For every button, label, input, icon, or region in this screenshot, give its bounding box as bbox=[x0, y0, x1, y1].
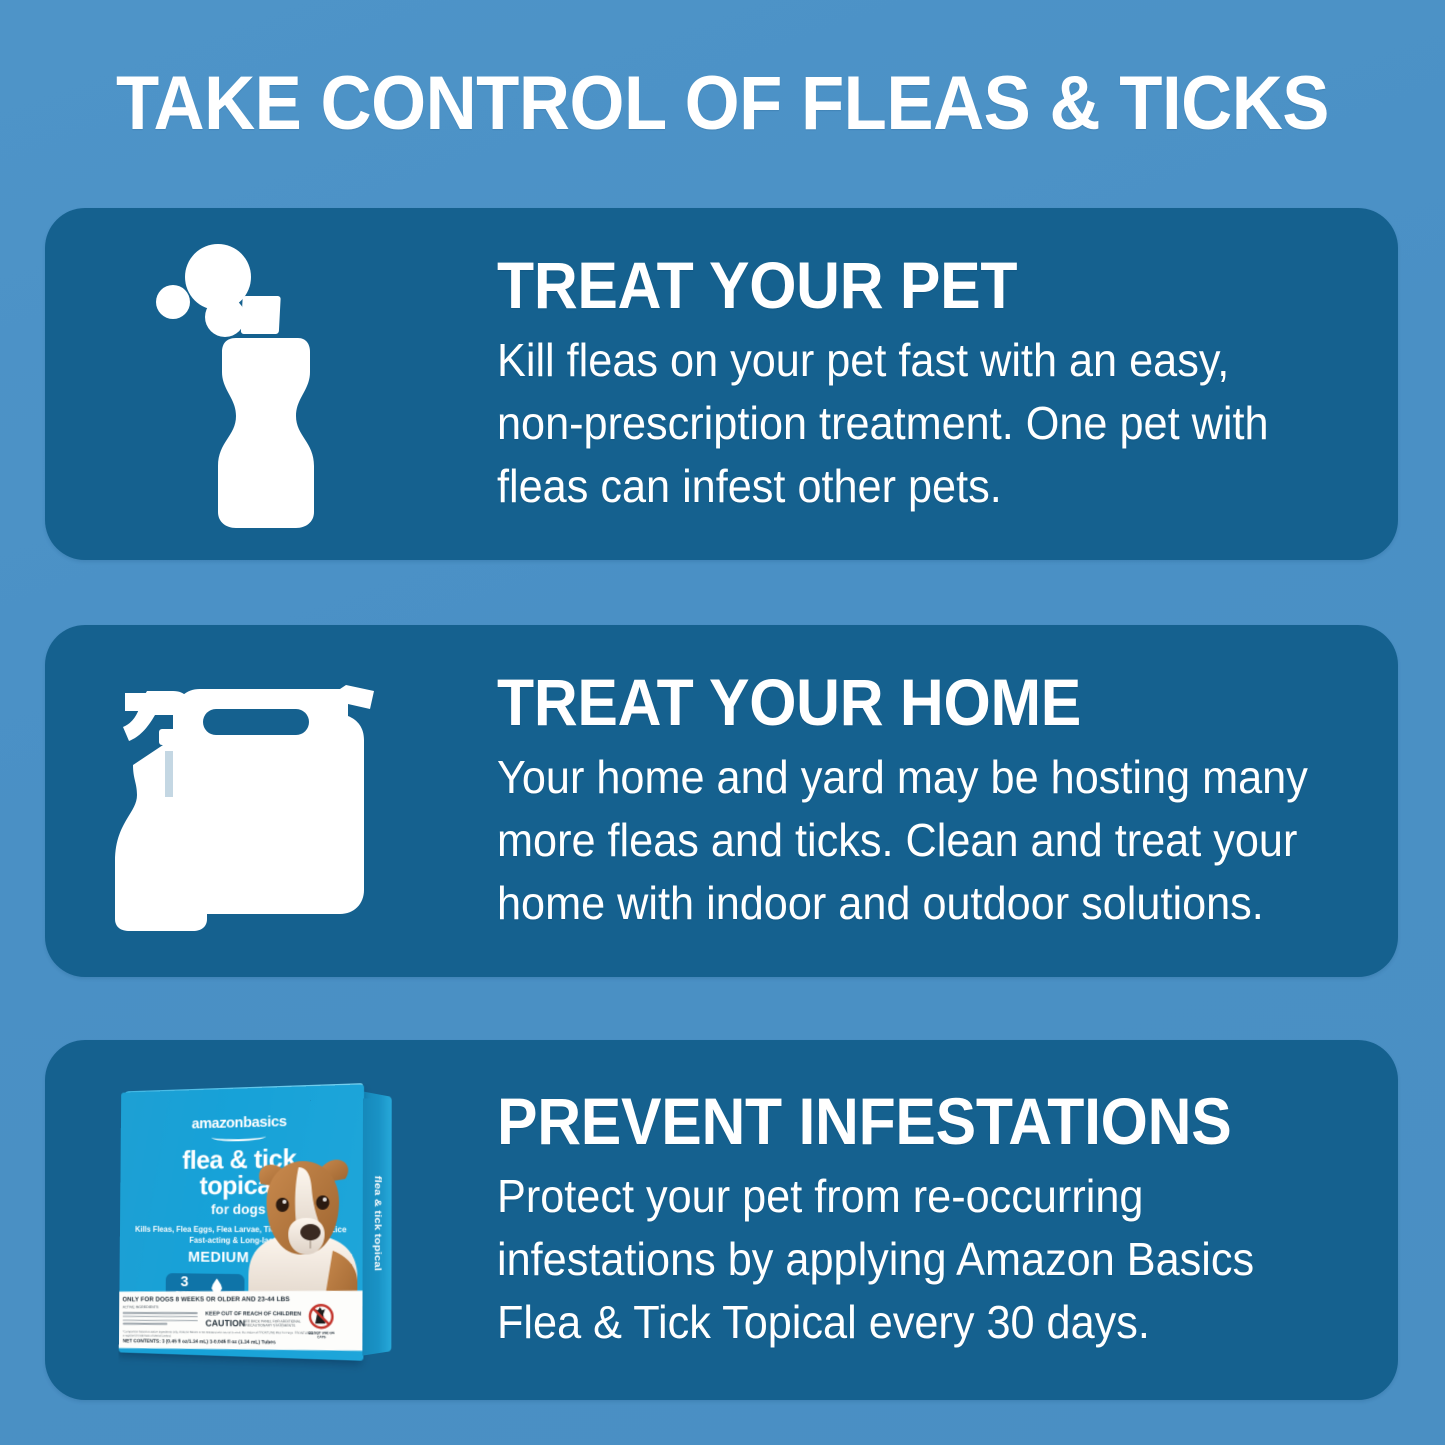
card-icon-container bbox=[45, 208, 465, 560]
spray-bottle-and-jug-icon bbox=[105, 671, 405, 931]
product-box-spine-text: flea & tick topical bbox=[372, 1175, 382, 1271]
label-keep-out-of-reach: KEEP OUT OF REACH OF CHILDREN bbox=[205, 1311, 301, 1317]
label-headline: ONLY FOR DOGS 8 WEEKS OR OLDER AND 23-44… bbox=[122, 1296, 289, 1303]
card-title: PREVENT INFESTATIONS bbox=[497, 1087, 1298, 1155]
label-line bbox=[123, 1312, 198, 1314]
no-cats-warning: DO NOT USE ON CATS bbox=[304, 1303, 339, 1339]
jack-russell-terrier-illustration bbox=[240, 1148, 364, 1315]
infographic-page: TAKE CONTROL OF FLEAS & TICKS TREAT YOUR… bbox=[0, 0, 1445, 1445]
product-subtitle: for dogs bbox=[120, 1200, 364, 1217]
info-card-prevent-infestations: flea & tick topical amazonbasics flea & … bbox=[45, 1040, 1398, 1400]
dog-photo bbox=[240, 1148, 364, 1315]
card-text: Kill fleas on your pet fast with an easy… bbox=[497, 329, 1316, 518]
product-label-band: ONLY FOR DOGS 8 WEEKS OR OLDER AND 23-44… bbox=[119, 1291, 364, 1351]
label-line bbox=[123, 1319, 198, 1321]
product-box-spine: flea & tick topical bbox=[362, 1091, 391, 1355]
product-box-front-face: amazonbasics flea & tick topical for dog… bbox=[119, 1084, 364, 1361]
label-line bbox=[123, 1316, 198, 1318]
product-claims-line1: Kills Fleas, Flea Eggs, Flea Larvae, Tic… bbox=[129, 1224, 353, 1235]
card-icon-container: flea & tick topical amazonbasics flea & … bbox=[45, 1040, 465, 1400]
label-active-ingredients: ACTIVE INGREDIENTS: bbox=[123, 1305, 160, 1309]
label-ingredient-lines bbox=[123, 1312, 198, 1327]
label-caution-text: SEE BACK PANEL FOR ADDITIONAL PRECAUTION… bbox=[243, 1319, 309, 1328]
label-net-contents: NET CONTENTS: 3 (0.45 fl oz/1.34 mL) 3-0… bbox=[123, 1338, 276, 1345]
card-text: Protect your pet from re-occurring infes… bbox=[497, 1165, 1316, 1354]
card-body: TREAT YOUR PET Kill fleas on your pet fa… bbox=[497, 208, 1368, 560]
no-cats-label: DO NOT USE ON CATS bbox=[304, 1331, 339, 1339]
page-title: TAKE CONTROL OF FLEAS & TICKS bbox=[51, 62, 1395, 146]
product-claims-line2: Fast-acting & Long-lasting bbox=[129, 1235, 353, 1247]
product-size: MEDIUM DOG bbox=[119, 1248, 363, 1267]
info-card-treat-your-home: TREAT YOUR HOME Your home and yard may b… bbox=[45, 625, 1398, 977]
card-title: TREAT YOUR HOME bbox=[497, 668, 1298, 736]
product-box-image: flea & tick topical amazonbasics flea & … bbox=[105, 1070, 405, 1370]
card-title: TREAT YOUR PET bbox=[497, 251, 1298, 319]
product-claims: Kills Fleas, Flea Eggs, Flea Larvae, Tic… bbox=[129, 1224, 353, 1247]
info-card-treat-your-pet: TREAT YOUR PET Kill fleas on your pet fa… bbox=[45, 208, 1398, 560]
no-cats-icon bbox=[308, 1303, 335, 1330]
frontline-comparison-text: Contains the same active ingredients as … bbox=[244, 1297, 364, 1312]
brand-text: amazonbasics bbox=[192, 1113, 287, 1132]
label-line bbox=[123, 1323, 168, 1325]
amazon-basics-logo: amazonbasics bbox=[121, 1111, 364, 1144]
amazon-smile-icon bbox=[211, 1132, 265, 1142]
label-caution: CAUTION bbox=[205, 1318, 245, 1328]
card-body: PREVENT INFESTATIONS Protect your pet fr… bbox=[497, 1040, 1368, 1400]
frontline-comparison-banner: Contains the same active ingredients as … bbox=[240, 1291, 364, 1318]
card-icon-container bbox=[45, 625, 465, 977]
card-body: TREAT YOUR HOME Your home and yard may b… bbox=[497, 625, 1368, 977]
card-text: Your home and yard may be hosting many m… bbox=[497, 746, 1316, 935]
shampoo-bottle-with-bubbles-icon bbox=[140, 234, 370, 534]
